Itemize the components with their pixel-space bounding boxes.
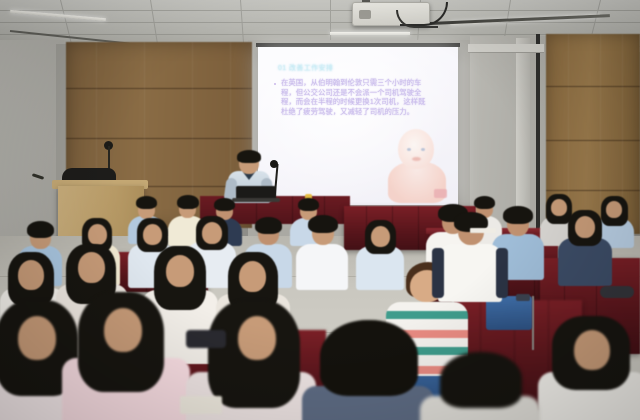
audience-member-foreground bbox=[420, 352, 540, 420]
slide-bullet-icon bbox=[274, 83, 276, 85]
audience-member-foreground bbox=[62, 292, 190, 420]
audience-member bbox=[558, 210, 612, 284]
slide-title: 01 改善工作安排 bbox=[278, 63, 333, 73]
desk-item-shoes bbox=[600, 286, 634, 298]
desk-item-bag bbox=[186, 330, 226, 348]
lecture-room-photo: 01 改善工作安排 在英国，从伯明翰到伦敦只需三个小时的车程，但公交公司还是不会… bbox=[0, 0, 640, 420]
wall-right-post bbox=[516, 38, 530, 234]
audience-member bbox=[296, 216, 348, 288]
table-leg bbox=[532, 296, 534, 350]
slide-logo-icon bbox=[434, 189, 447, 198]
desk-item-paper bbox=[470, 228, 496, 233]
projector-lens-icon bbox=[359, 10, 371, 19]
slide-body-text: 在英国，从伯明翰到伦敦只需三个小时的车程，但公交公司还是不会派一个司机驾驶全程，… bbox=[281, 78, 431, 116]
audience-member-foreground bbox=[302, 320, 434, 420]
projection-screen: 01 改善工作安排 在英国，从伯明翰到伦敦只需三个小时的车程，但公交公司还是不会… bbox=[258, 47, 458, 205]
screen-valance bbox=[468, 44, 544, 53]
desk-item-phone[interactable] bbox=[516, 294, 530, 301]
speaker-mic-head-icon bbox=[270, 160, 278, 168]
audience-member-foreground bbox=[538, 316, 640, 420]
ceiling-light-3 bbox=[330, 32, 410, 35]
desk-item-notebook bbox=[180, 396, 222, 414]
